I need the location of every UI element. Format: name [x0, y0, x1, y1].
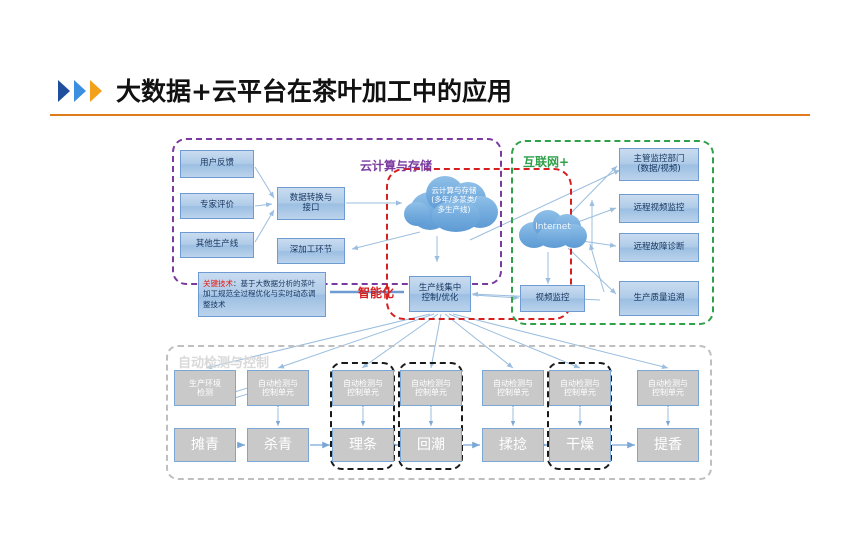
box-data-interface[interactable]: 数据转换与 接口 [277, 187, 345, 220]
box-central-control[interactable]: 生产线集中 控制/优化 [409, 276, 471, 312]
cloud-line2: (多年/多茶类/ [404, 195, 504, 204]
unit-line1: 自动检测与 [258, 379, 298, 388]
internet-label: Internet [517, 222, 589, 233]
unit-line2: 检测 [189, 388, 221, 397]
page-title: 大数据+云平台在茶叶加工中的应用 [116, 72, 512, 112]
box-detection-unit[interactable]: 自动检测与 控制单元 [332, 370, 394, 406]
box-remote-fault-diagnosis[interactable]: 远程故障诊断 [619, 233, 699, 262]
chevron-right-icon [74, 80, 86, 102]
process-step[interactable]: 提香 [637, 428, 699, 462]
unit-line1: 生产环境 [189, 379, 221, 388]
internet-cloud-icon: Internet [517, 208, 589, 250]
unit-line1: 自动检测与 [560, 379, 600, 388]
box-deep-processing[interactable]: 深加工环节 [277, 238, 345, 264]
box-video-monitoring[interactable]: 视频监控 [520, 285, 585, 312]
process-step[interactable]: 回潮 [400, 428, 462, 462]
unit-line2: 控制单元 [648, 388, 688, 397]
process-step[interactable]: 杀青 [247, 428, 309, 462]
chevron-right-icon [58, 80, 70, 102]
unit-line1: 自动检测与 [648, 379, 688, 388]
box-data-interface-line2: 接口 [290, 204, 333, 214]
central-control-line2: 控制/优化 [419, 294, 462, 304]
box-detection-unit[interactable]: 生产环境 检测 [174, 370, 236, 406]
slide-canvas: 大数据+云平台在茶叶加工中的应用 [0, 0, 855, 560]
supervision-line2: (数据/视频) [633, 165, 684, 175]
box-supervision-department[interactable]: 主管监控部门 (数据/视频) [619, 148, 699, 181]
box-quality-traceability[interactable]: 生产质量追溯 [619, 281, 699, 316]
unit-line1: 自动检测与 [343, 379, 383, 388]
cloud-computing-text: 云计算与存储 (多年/多茶类/ 多生产线) [404, 186, 504, 214]
process-step[interactable]: 揉捻 [482, 428, 544, 462]
cloud-line3: 多生产线) [404, 205, 504, 214]
unit-line1: 自动检测与 [411, 379, 451, 388]
title-bar: 大数据+云平台在茶叶加工中的应用 [58, 72, 798, 118]
process-step[interactable]: 摊青 [174, 428, 236, 462]
unit-line2: 控制单元 [560, 388, 600, 397]
box-key-technology[interactable]: 关键技术：基于大数据分析的茶叶加工规范全过程优化与实时动态调整技术 [198, 272, 326, 317]
title-divider [50, 114, 810, 116]
label-intelligent: 智能化 [358, 284, 394, 301]
key-technology-label: 关键技术 [203, 279, 233, 288]
process-step[interactable]: 干燥 [549, 428, 611, 462]
cloud-line1: 云计算与存储 [404, 186, 504, 195]
box-remote-video-monitoring[interactable]: 远程视频监控 [619, 194, 699, 223]
label-internet-plus: 互联网+ [523, 153, 569, 170]
unit-line2: 控制单元 [411, 388, 451, 397]
key-technology-separator: ： [233, 279, 241, 288]
box-expert-review[interactable]: 专家评价 [180, 193, 254, 219]
chevron-right-icon [90, 80, 102, 102]
process-step[interactable]: 理条 [332, 428, 394, 462]
unit-line2: 控制单元 [258, 388, 298, 397]
box-detection-unit[interactable]: 自动检测与 控制单元 [637, 370, 699, 406]
box-detection-unit[interactable]: 自动检测与 控制单元 [247, 370, 309, 406]
unit-line2: 控制单元 [343, 388, 383, 397]
box-detection-unit[interactable]: 自动检测与 控制单元 [400, 370, 462, 406]
box-other-production-line[interactable]: 其他生产线 [180, 232, 254, 258]
label-auto-detection: 自动检测与控制 [178, 352, 269, 371]
cloud-computing-cloud-icon: 云计算与存储 (多年/多茶类/ 多生产线) [404, 172, 504, 234]
box-detection-unit[interactable]: 自动检测与 控制单元 [482, 370, 544, 406]
unit-line1: 自动检测与 [493, 379, 533, 388]
box-detection-unit[interactable]: 自动检测与 控制单元 [549, 370, 611, 406]
box-user-feedback[interactable]: 用户反馈 [180, 150, 254, 178]
chevron-group-icon [58, 80, 114, 104]
unit-line2: 控制单元 [493, 388, 533, 397]
